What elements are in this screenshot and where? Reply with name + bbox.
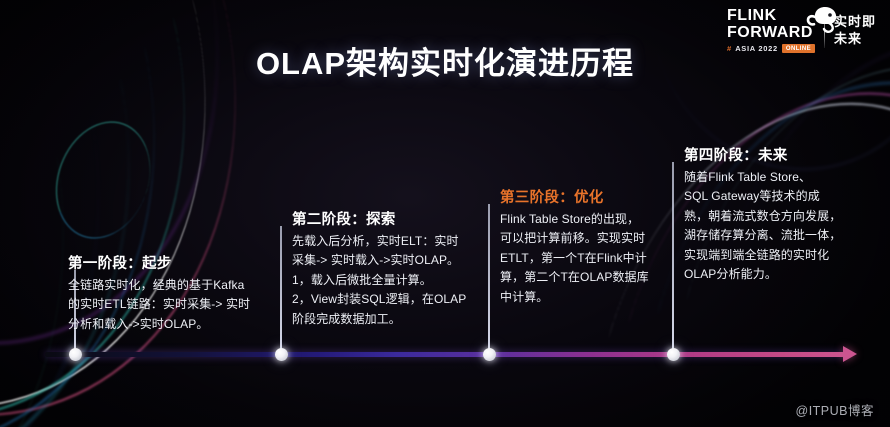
stage-3-heading: 第三阶段：优化 [500, 186, 676, 207]
logo-line-forward: FORWARD [727, 25, 813, 41]
stage-1-line-2: 的实时ETL链路：实时采集-> 实时 [68, 295, 268, 314]
stage-block-1: 第一阶段：起步 全链路实时化，经典的基于Kafka 的实时ETL链路：实时采集-… [68, 252, 268, 334]
node-dot[interactable] [483, 348, 496, 361]
stage-2-line-2: 采集-> 实时载入->实时OLAP。 [292, 251, 488, 270]
tagline-line-2: 未来 [834, 31, 876, 47]
stage-2-line-3: 1，载入后微批全量计算。 [292, 271, 488, 290]
stage-2-line-4: 2，View封装SQL逻辑，在OLAP [292, 290, 488, 309]
stage-1-heading: 第一阶段：起步 [68, 252, 268, 273]
hash-icon: # [727, 45, 731, 53]
stage-4-line-5: 实现端到端全链路的实时化 [684, 246, 870, 265]
node-stem [280, 226, 282, 354]
stage-1-line-1: 全链路实时化，经典的基于Kafka [68, 276, 268, 295]
stage-3-line-4: 算，第二个T在OLAP数据库 [500, 268, 676, 287]
node-dot[interactable] [275, 348, 288, 361]
logo-line-flink: FLINK [727, 8, 777, 24]
flink-forward-logo: FLINK FORWARD # ASIA 2022 ONLINE [727, 8, 815, 53]
stage-block-2: 第二阶段：探索 先载入后分析，实时ELT：实时 采集-> 实时载入->实时OLA… [292, 208, 488, 329]
stage-4-body: 随着Flink Table Store、 SQL Gateway等技术的成 熟，… [684, 168, 870, 285]
stage-2-heading: 第二阶段：探索 [292, 208, 488, 229]
node-dot[interactable] [69, 348, 82, 361]
logo-badge: ONLINE [782, 44, 815, 53]
logo-subtitle: # ASIA 2022 ONLINE [727, 44, 815, 53]
stage-4-line-3: 熟，朝着流式数仓方向发展， [684, 207, 870, 226]
conference-logo: FLINK FORWARD # ASIA 2022 ONLINE 实时即 未来 [727, 8, 876, 53]
slide-root: FLINK FORWARD # ASIA 2022 ONLINE 实时即 未来 … [0, 0, 890, 427]
stage-3-body: Flink Table Store的出现， 可以把计算前移。实现实时 ETLT，… [500, 210, 676, 307]
stage-block-4: 第四阶段：未来 随着Flink Table Store、 SQL Gateway… [684, 144, 870, 285]
timeline-axis [45, 352, 845, 357]
stage-4-line-1: 随着Flink Table Store、 [684, 168, 870, 187]
stage-4-heading: 第四阶段：未来 [684, 144, 870, 165]
node-stem [488, 204, 490, 354]
watermark: @ITPUB博客 [796, 400, 875, 419]
stage-2-body: 先载入后分析，实时ELT：实时 采集-> 实时载入->实时OLAP。 1，载入后… [292, 232, 488, 329]
stage-2-line-5: 阶段完成数据加工。 [292, 310, 488, 329]
stage-4-line-6: OLAP分析能力。 [684, 265, 870, 284]
node-dot[interactable] [667, 348, 680, 361]
stage-2-line-1: 先载入后分析，实时ELT：实时 [292, 232, 488, 251]
stage-3-line-1: Flink Table Store的出现， [500, 210, 676, 229]
streak-curl-left [40, 108, 166, 252]
tagline-line-1: 实时即 [834, 14, 876, 30]
squirrel-icon [805, 4, 839, 34]
stage-3-line-2: 可以把计算前移。实现实时 [500, 229, 676, 248]
stage-1-line-3: 分析和载入->实时OLAP。 [68, 315, 268, 334]
stage-4-line-2: SQL Gateway等技术的成 [684, 187, 870, 206]
logo-chinese-tagline: 实时即 未来 [834, 14, 876, 47]
stage-4-line-4: 湖存储存算分离、流批一体， [684, 226, 870, 245]
stage-1-body: 全链路实时化，经典的基于Kafka 的实时ETL链路：实时采集-> 实时 分析和… [68, 276, 268, 334]
logo-event-name: ASIA 2022 [735, 45, 778, 53]
stage-block-3: 第三阶段：优化 Flink Table Store的出现， 可以把计算前移。实现… [500, 186, 676, 307]
stage-3-line-5: 中计算。 [500, 288, 676, 307]
timeline-arrow-icon [843, 346, 857, 362]
stage-3-line-3: ETLT，第一个T在Flink中计 [500, 249, 676, 268]
